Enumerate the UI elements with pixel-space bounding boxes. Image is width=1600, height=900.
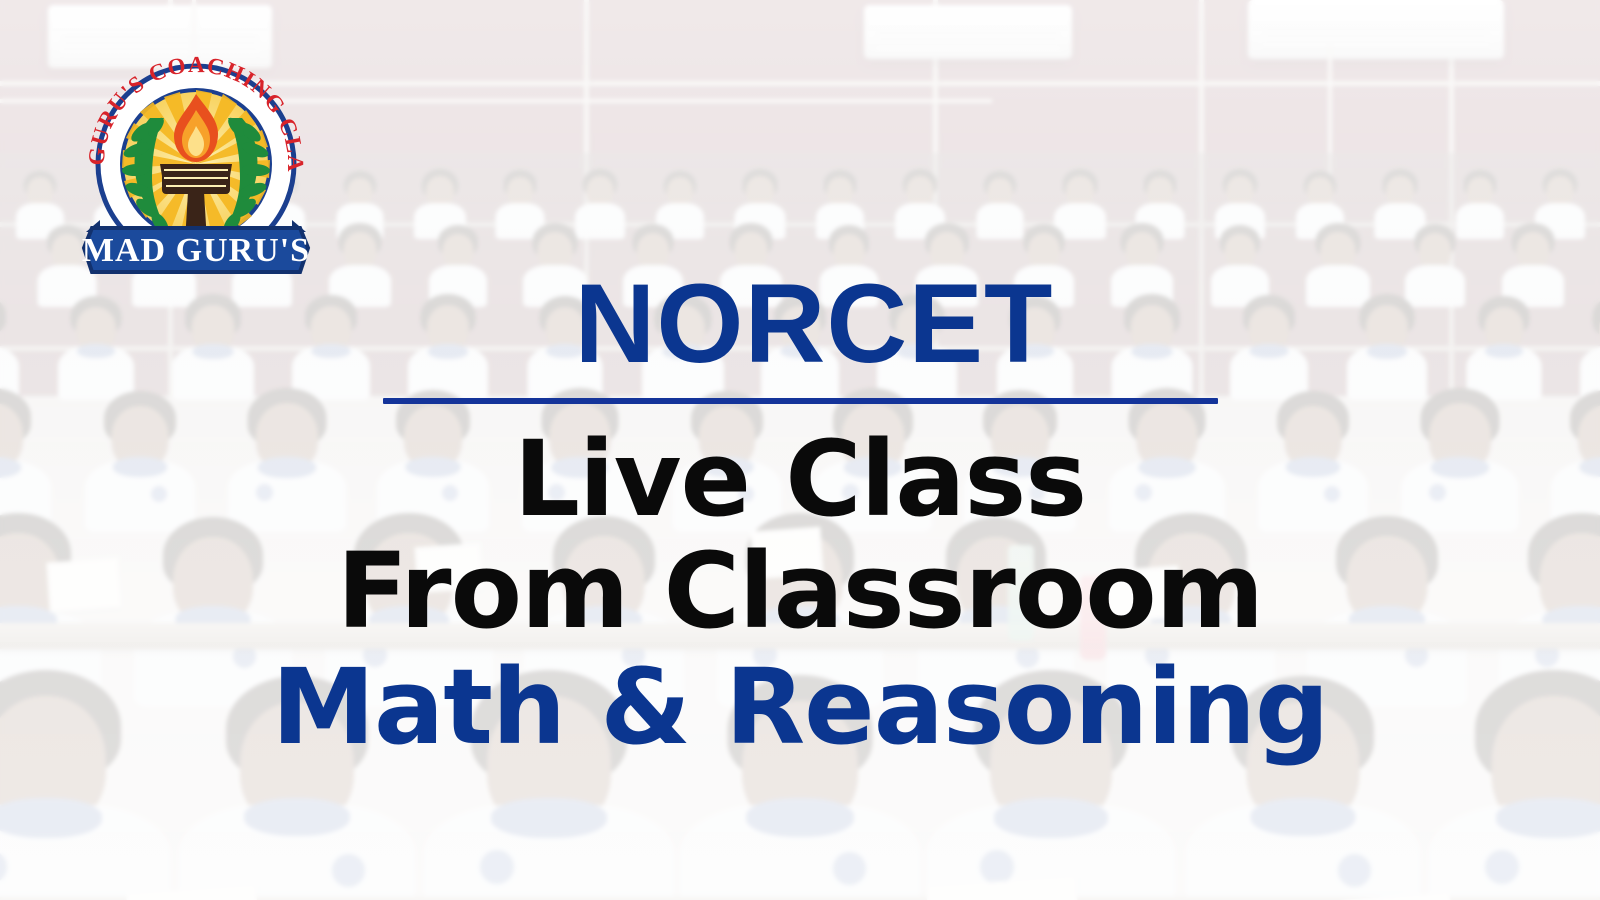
- promo-banner: MAD GURU'S COACHING CLASSES MAD GURU'S N…: [0, 0, 1600, 900]
- headline-line-1: Live Class: [0, 426, 1600, 532]
- mad-gurus-logo[interactable]: MAD GURU'S COACHING CLASSES MAD GURU'S: [76, 32, 316, 280]
- headline-line-3-subject: Math & Reasoning: [0, 654, 1600, 760]
- title-divider-rule: [383, 398, 1218, 404]
- headline-line-2: From Classroom: [0, 538, 1600, 644]
- logo-ribbon-text: MAD GURU'S: [82, 232, 310, 269]
- exam-name-title: NORCET: [0, 268, 1600, 380]
- logo-ribbon: MAD GURU'S: [82, 220, 310, 272]
- headline-block: NORCET Live Class From Classroom Math & …: [0, 268, 1600, 760]
